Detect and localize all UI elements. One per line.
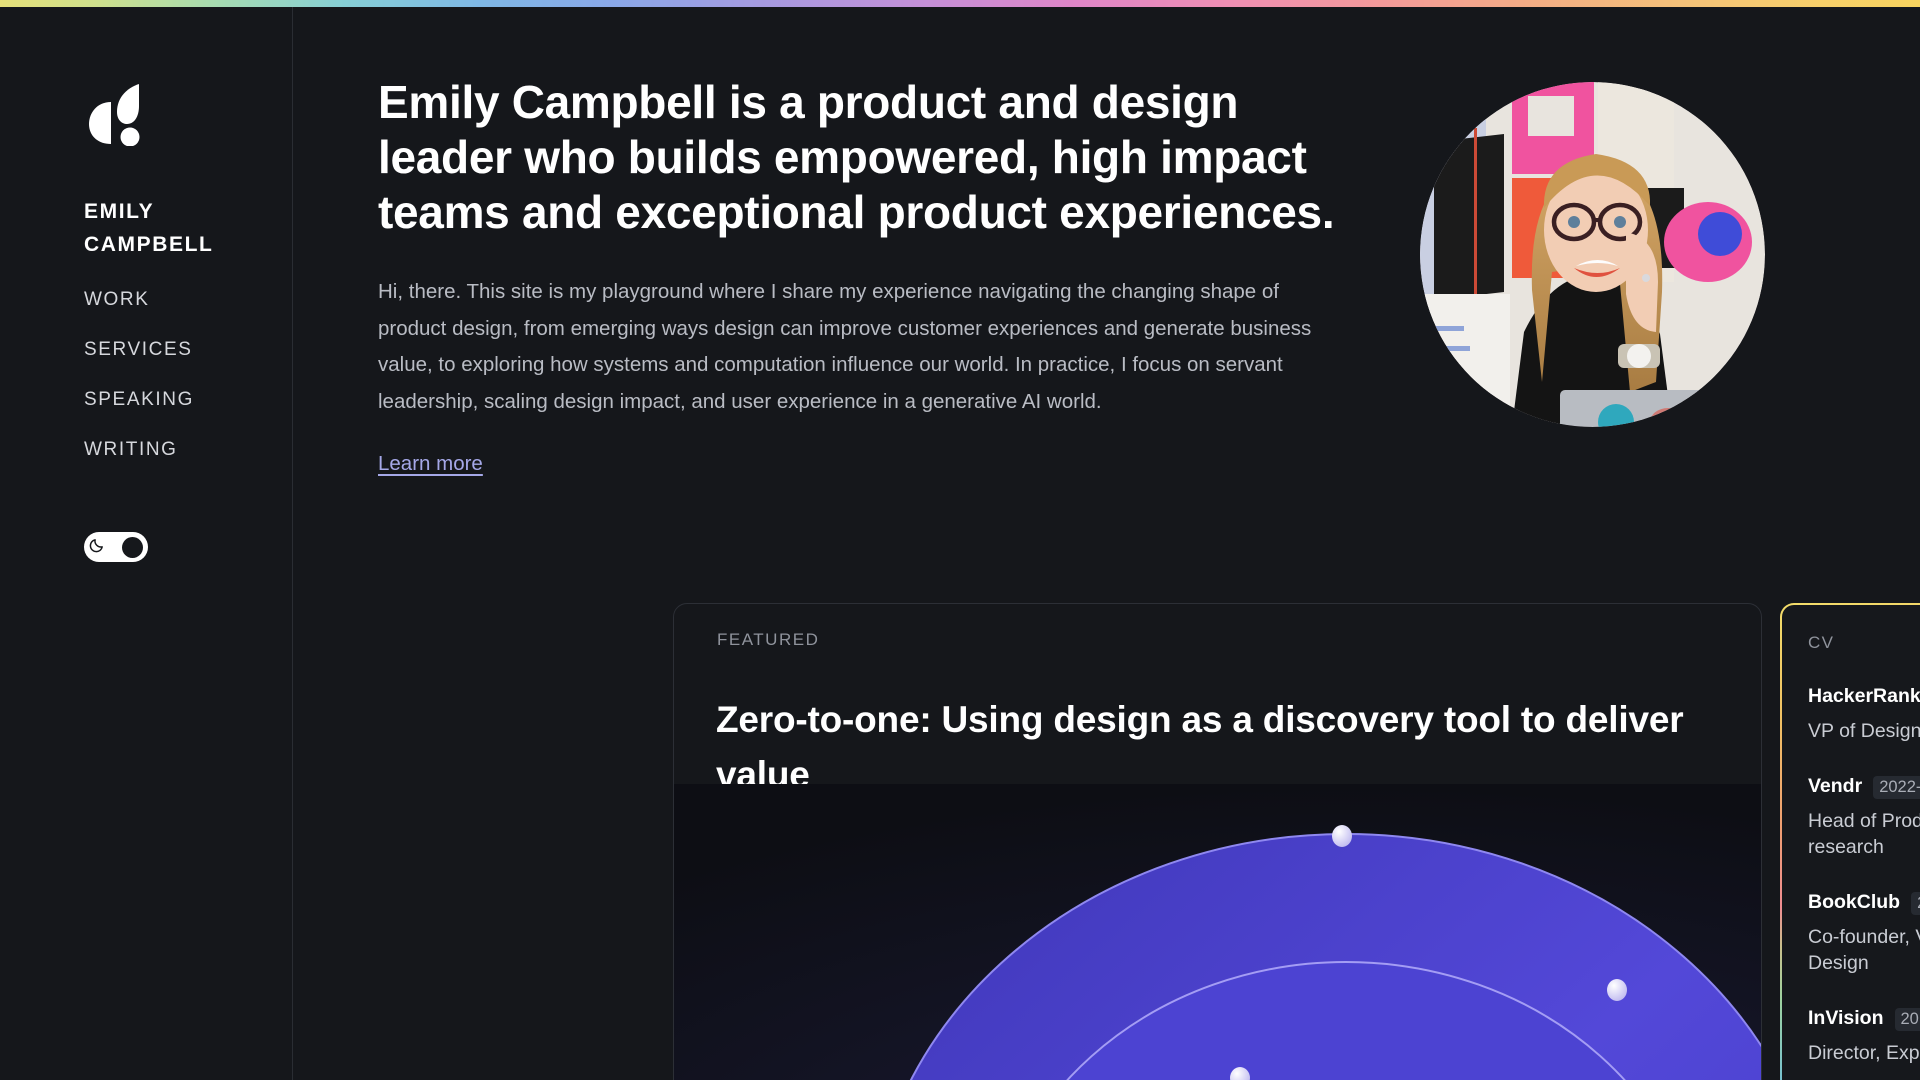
page-title: Emily Campbell is a product and design l…	[378, 75, 1378, 240]
brand-name[interactable]: EMILY CAMPBELL	[84, 195, 274, 261]
theme-toggle-switch[interactable]	[84, 532, 148, 562]
cv-company-name: BookClub	[1808, 891, 1900, 914]
nav-item-speaking[interactable]: SPEAKING	[84, 389, 284, 411]
hero-section: Emily Campbell is a product and design l…	[378, 75, 1378, 476]
brand-name-line1: EMILY	[84, 195, 274, 228]
nav-item-work[interactable]: WORK	[84, 289, 284, 311]
featured-eyebrow-label: FEATURED	[717, 630, 819, 650]
cv-period-badge: 2018-2020	[1895, 1008, 1920, 1031]
hero-description: Hi, there. This site is my playground wh…	[378, 274, 1343, 420]
cv-entry: Vendr 2022-2024 Head of Product Design a…	[1808, 775, 1920, 861]
toggle-knob	[122, 537, 143, 558]
sidebar: EMILY CAMPBELL WORK SERVICES SPEAKING WR…	[0, 7, 293, 1080]
cv-company-name: Vendr	[1808, 775, 1862, 798]
nav-item-services[interactable]: SERVICES	[84, 339, 284, 361]
cv-entry: InVision 2018-2020 Director, Experience …	[1808, 1007, 1920, 1067]
leaf-logo-icon[interactable]	[85, 82, 141, 146]
concentric-orbit-rings-graphic	[674, 784, 1762, 1080]
cv-card[interactable]: CV HackerRank Current VP of Design	[1780, 603, 1920, 1080]
learn-more-link[interactable]: Learn more	[378, 452, 483, 476]
brand-name-line2: CAMPBELL	[84, 228, 274, 261]
cv-company-name: InVision	[1808, 1007, 1884, 1030]
cv-company-name: HackerRank	[1808, 685, 1920, 708]
nav-item-writing[interactable]: WRITING	[84, 439, 284, 461]
cv-role-title: Head of Product Design and UX research	[1808, 808, 1920, 861]
featured-case-study-card[interactable]: FEATURED Zero-to-one: Using design as a …	[673, 603, 1762, 1080]
main-navigation: WORK SERVICES SPEAKING WRITING	[84, 289, 284, 489]
cv-card-header: CV	[1808, 631, 1920, 655]
main-content: Emily Campbell is a product and design l…	[293, 7, 1920, 1080]
moon-icon	[89, 536, 106, 558]
cv-entry: BookClub 2020-2022 Co-founder, VP of Pro…	[1808, 891, 1920, 977]
cv-period-badge: 2022-2024	[1873, 776, 1920, 799]
cv-role-title: Director, Experience Strategy	[1808, 1040, 1920, 1067]
cv-period-badge: 2020-2022	[1911, 892, 1920, 915]
cv-entry: HackerRank Current VP of Design	[1808, 685, 1920, 745]
cv-role-title: Co-founder, VP of Product and Design	[1808, 924, 1920, 977]
cv-role-title: VP of Design	[1808, 718, 1920, 745]
cv-label: CV	[1808, 633, 1834, 653]
top-gradient-bar	[0, 0, 1920, 7]
avatar	[1420, 82, 1765, 427]
